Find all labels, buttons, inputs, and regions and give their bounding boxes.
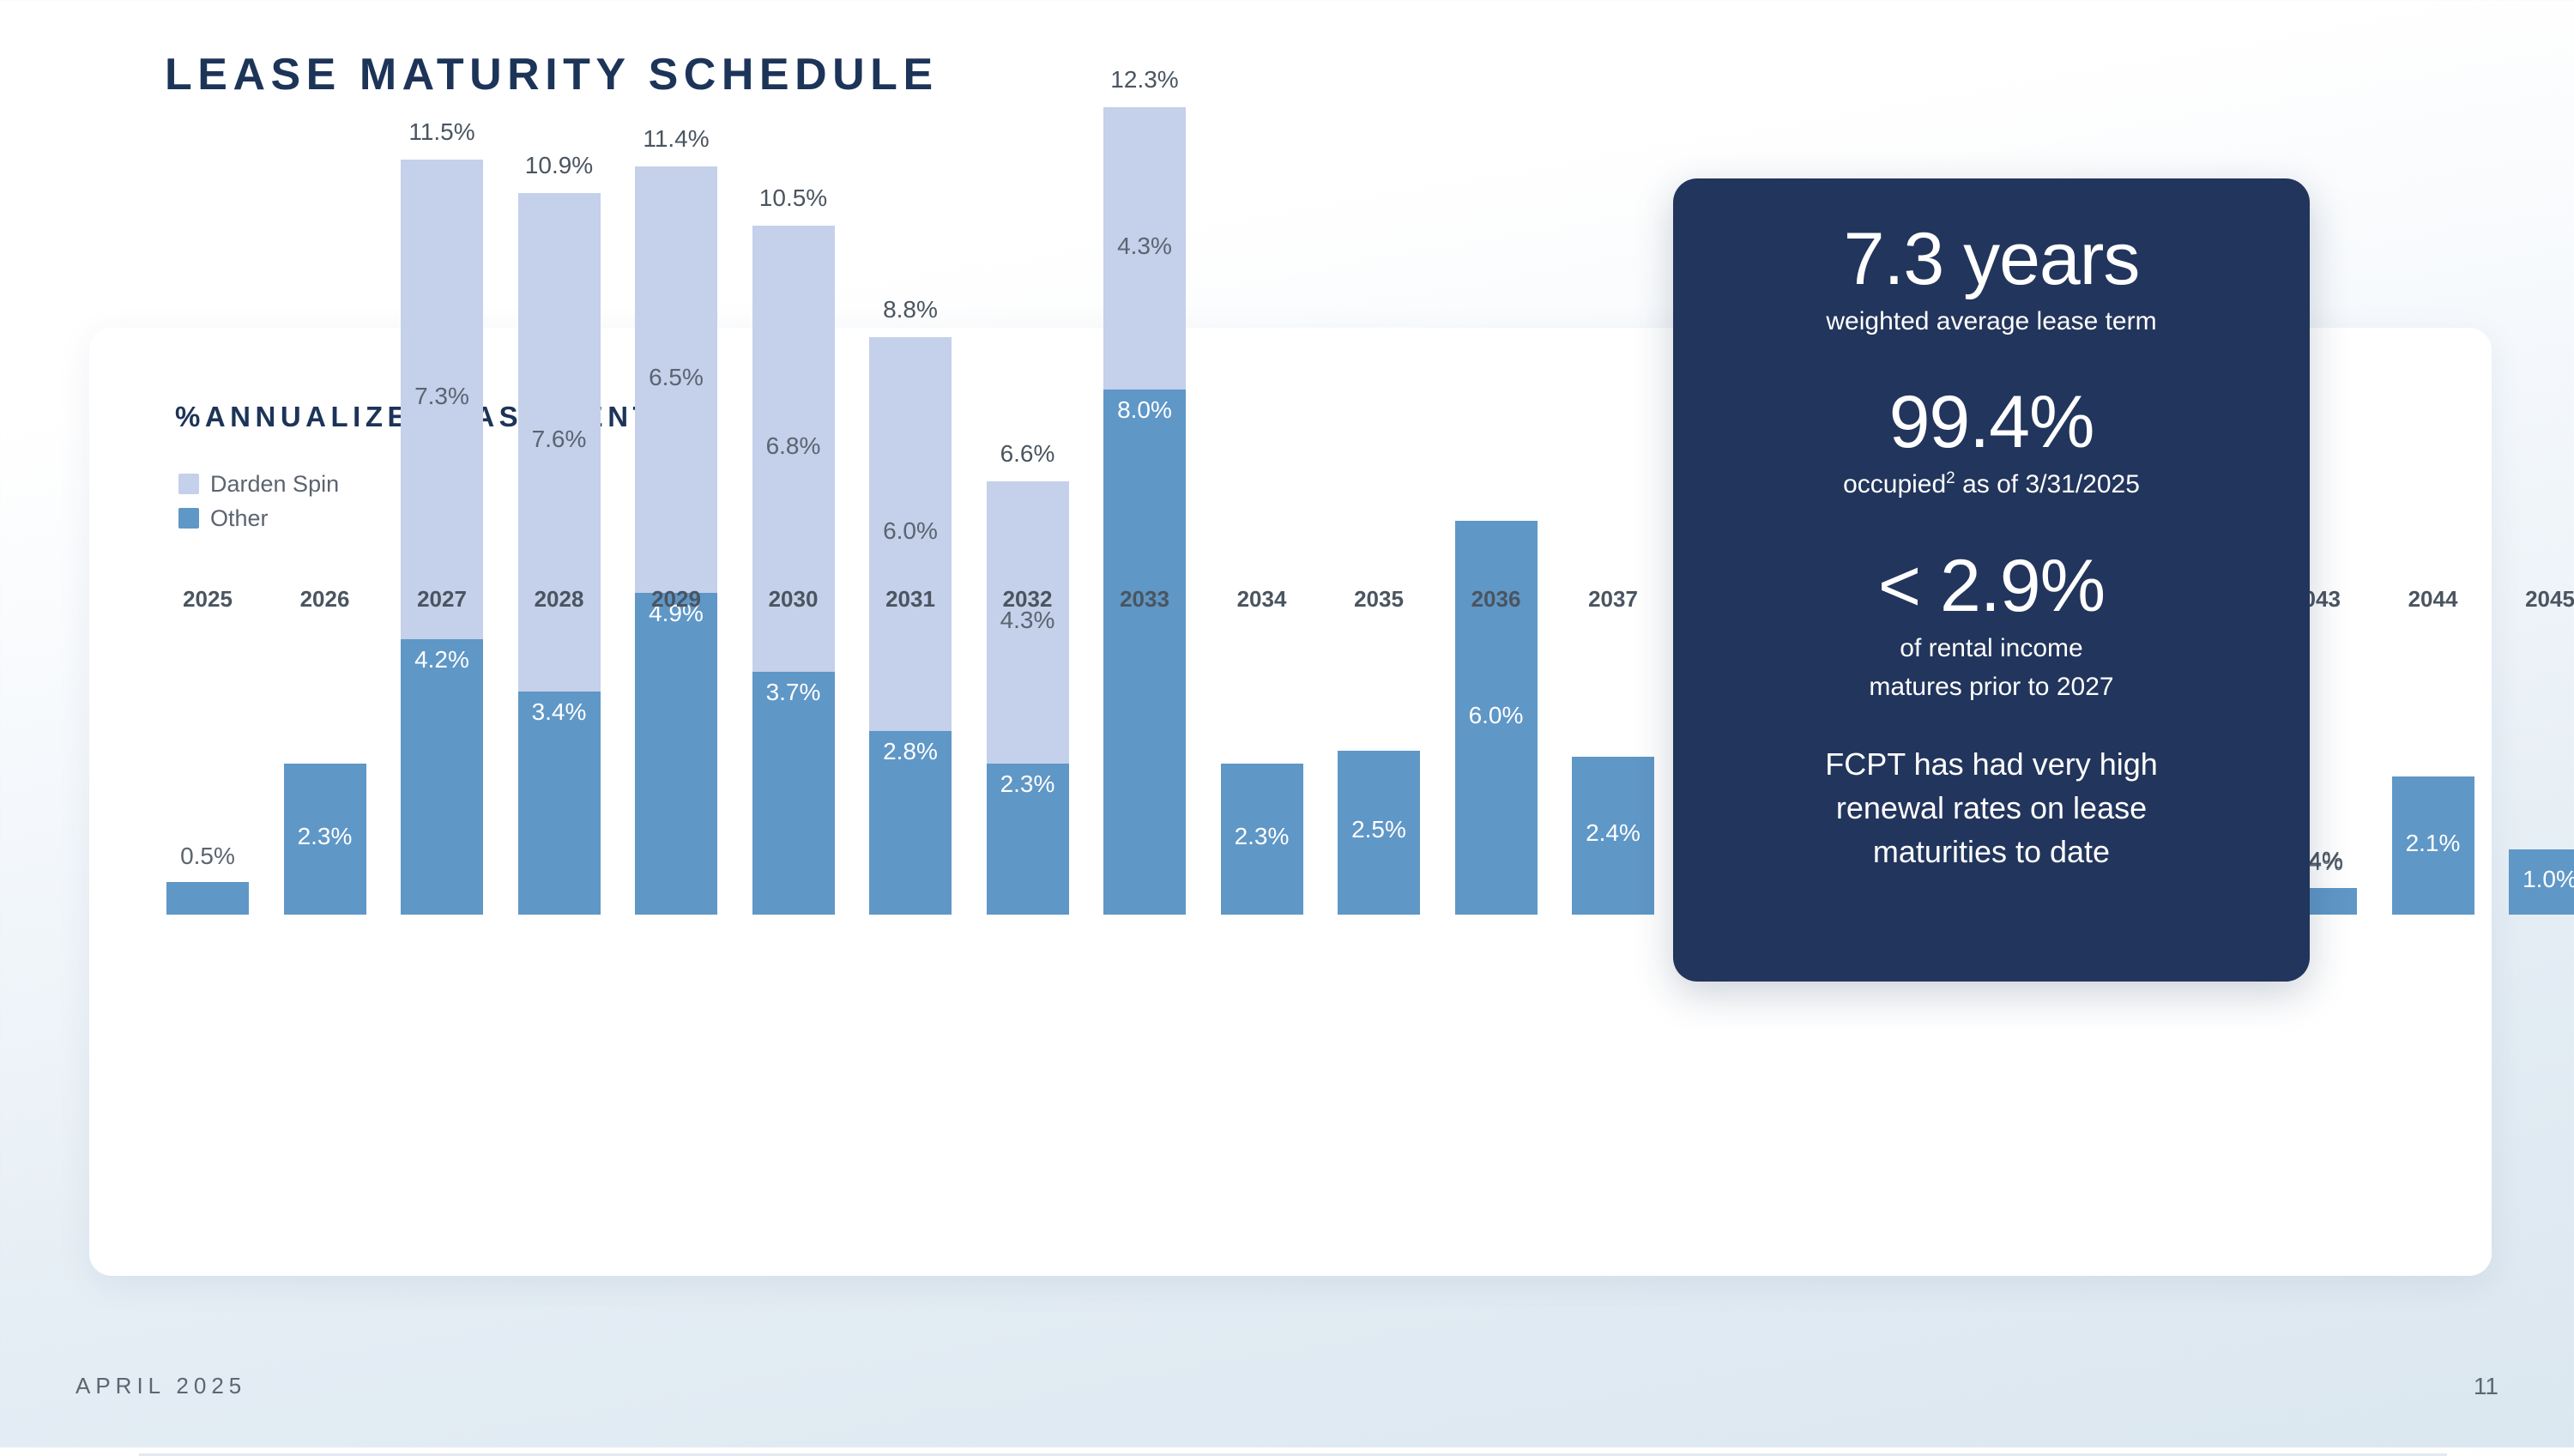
bar-group-2045: 1.0%2045 xyxy=(2509,849,2574,915)
bar-value-other-2025: 0.5% xyxy=(166,843,249,870)
bar-value-other-2045: 1.0% xyxy=(2509,866,2574,893)
bar-segment-other-2034[interactable]: 2.3% xyxy=(1221,764,1303,915)
bar-segment-other-2036[interactable]: 6.0% xyxy=(1455,521,1538,915)
bar-value-other-2035: 2.5% xyxy=(1338,816,1420,843)
highlights-callout: 7.3 years weighted average lease term 99… xyxy=(1673,178,2310,982)
bar-group-2030: 6.8%3.7%10.5%2030 xyxy=(752,226,835,915)
bar-segment-other-2045[interactable]: 1.0% xyxy=(2509,849,2574,915)
bar-segment-darden-spin-2027[interactable]: 7.3% xyxy=(401,160,483,638)
bar-group-2028: 7.6%3.4%10.9%2028 xyxy=(518,193,601,915)
bar-segment-darden-spin-2029[interactable]: 6.5% xyxy=(635,166,717,593)
bar-group-2026: 2.3%2026 xyxy=(284,764,366,915)
bar-segment-other-2029[interactable]: 4.9% xyxy=(635,593,717,915)
x-axis-tick-2028: 2028 xyxy=(496,586,623,613)
bar-segment-other-2033[interactable]: 8.0% xyxy=(1103,390,1186,915)
bar-group-2036: 6.0%2036 xyxy=(1455,521,1538,915)
bar-segment-other-2031[interactable]: 2.8% xyxy=(869,731,952,915)
bar-value-other-2026: 2.3% xyxy=(284,823,366,850)
bar-segment-other-2044[interactable]: 2.1% xyxy=(2392,776,2474,915)
bar-value-other-2030: 3.7% xyxy=(752,679,835,706)
bar-total-2032: 6.6% xyxy=(968,440,1088,468)
bar-value-darden-spin-2029: 6.5% xyxy=(635,364,717,391)
stat-nearterm-caption-line1: of rental income xyxy=(1707,631,2275,666)
bar-value-other-2027: 4.2% xyxy=(401,646,483,674)
bar-value-other-2032: 2.3% xyxy=(987,770,1069,798)
bar-group-2033: 4.3%8.0%12.3%2033 xyxy=(1103,107,1186,915)
bar-value-other-2034: 2.3% xyxy=(1221,823,1303,850)
stat-wale-value: 7.3 years xyxy=(1707,220,2275,299)
bar-group-2027: 7.3%4.2%11.5%2027 xyxy=(401,160,483,915)
x-axis-tick-2034: 2034 xyxy=(1199,586,1326,613)
bar-value-other-2036: 6.0% xyxy=(1455,702,1538,729)
bar-value-darden-spin-2031: 6.0% xyxy=(869,517,952,545)
x-axis-tick-2031: 2031 xyxy=(847,586,974,613)
callout-note-line3: maturities to date xyxy=(1707,830,2275,873)
x-axis-tick-2025: 2025 xyxy=(144,586,271,613)
stat-occupancy-caption: occupied2 as of 3/31/2025 xyxy=(1707,468,2275,502)
bar-value-other-2037: 2.4% xyxy=(1572,819,1654,847)
stat-occupancy-caption-post: as of 3/31/2025 xyxy=(1955,470,2140,498)
bar-total-2030: 10.5% xyxy=(734,184,854,212)
bar-value-darden-spin-2030: 6.8% xyxy=(752,432,835,460)
bar-total-2029: 11.4% xyxy=(616,125,736,153)
page-title: LEASE MATURITY SCHEDULE xyxy=(165,49,939,100)
bar-group-2035: 2.5%2035 xyxy=(1338,751,1420,915)
bar-value-darden-spin-2033: 4.3% xyxy=(1103,233,1186,260)
bar-value-darden-spin-2027: 7.3% xyxy=(401,383,483,410)
callout-note-line1: FCPT has had very high xyxy=(1707,742,2275,786)
bar-value-darden-spin-2028: 7.6% xyxy=(518,426,601,453)
bar-segment-other-2032[interactable]: 2.3% xyxy=(987,764,1069,915)
bar-group-2025: 0.5%2025 xyxy=(166,882,249,915)
x-axis-tick-2032: 2032 xyxy=(964,586,1091,613)
x-axis-tick-2027: 2027 xyxy=(378,586,505,613)
footer-page-number: 11 xyxy=(2474,1373,2498,1400)
x-axis-tick-2036: 2036 xyxy=(1433,586,1560,613)
bar-segment-other-2025[interactable]: 0.5% xyxy=(166,882,249,915)
x-axis-tick-2045: 2045 xyxy=(2486,586,2574,613)
bar-total-2033: 12.3% xyxy=(1085,66,1205,94)
bar-segment-other-2035[interactable]: 2.5% xyxy=(1338,751,1420,915)
x-axis-tick-2026: 2026 xyxy=(262,586,389,613)
bar-total-2027: 11.5% xyxy=(382,118,502,146)
x-axis-tick-2033: 2033 xyxy=(1081,586,1208,613)
bar-segment-other-2030[interactable]: 3.7% xyxy=(752,672,835,915)
bar-total-2031: 8.8% xyxy=(850,296,970,323)
bar-segment-darden-spin-2033[interactable]: 4.3% xyxy=(1103,107,1186,390)
bar-value-other-2033: 8.0% xyxy=(1103,396,1186,424)
x-axis-tick-2035: 2035 xyxy=(1315,586,1442,613)
x-axis-tick-2044: 2044 xyxy=(2370,586,2497,613)
bar-group-2034: 2.3%2034 xyxy=(1221,764,1303,915)
bar-segment-darden-spin-2032[interactable]: 4.3% xyxy=(987,481,1069,764)
stat-nearterm-value: < 2.9% xyxy=(1707,547,2275,626)
x-axis-tick-2037: 2037 xyxy=(1550,586,1677,613)
bar-group-2031: 6.0%2.8%8.8%2031 xyxy=(869,337,952,915)
bar-value-other-2044: 2.1% xyxy=(2392,830,2474,857)
bar-group-2037: 2.4%2037 xyxy=(1572,757,1654,915)
footer-date: APRIL 2025 xyxy=(76,1373,246,1399)
bar-group-2044: 2.1%2044 xyxy=(2392,776,2474,915)
stat-occupancy-caption-superscript: 2 xyxy=(1946,469,1955,487)
stat-occupancy-caption-pre: occupied xyxy=(1843,470,1946,498)
bar-segment-darden-spin-2031[interactable]: 6.0% xyxy=(869,337,952,731)
callout-note-line2: renewal rates on lease xyxy=(1707,786,2275,830)
bar-total-2028: 10.9% xyxy=(499,152,619,179)
bar-segment-other-2037[interactable]: 2.4% xyxy=(1572,757,1654,915)
bar-value-other-2028: 3.4% xyxy=(518,698,601,726)
bar-segment-other-2026[interactable]: 2.3% xyxy=(284,764,366,915)
bar-segment-other-2028[interactable]: 3.4% xyxy=(518,692,601,915)
bar-segment-darden-spin-2028[interactable]: 7.6% xyxy=(518,193,601,692)
stat-wale-caption: weighted average lease term xyxy=(1707,305,2275,339)
x-axis-tick-2030: 2030 xyxy=(730,586,857,613)
bar-group-2032: 4.3%2.3%6.6%2032 xyxy=(987,481,1069,915)
stat-occupancy-value: 99.4% xyxy=(1707,383,2275,462)
bar-group-2029: 6.5%4.9%11.4%2029 xyxy=(635,166,717,915)
bar-value-other-2031: 2.8% xyxy=(869,738,952,765)
x-axis-tick-2029: 2029 xyxy=(613,586,740,613)
stat-nearterm-caption-line2: matures prior to 2027 xyxy=(1707,670,2275,704)
bar-segment-other-2027[interactable]: 4.2% xyxy=(401,639,483,915)
